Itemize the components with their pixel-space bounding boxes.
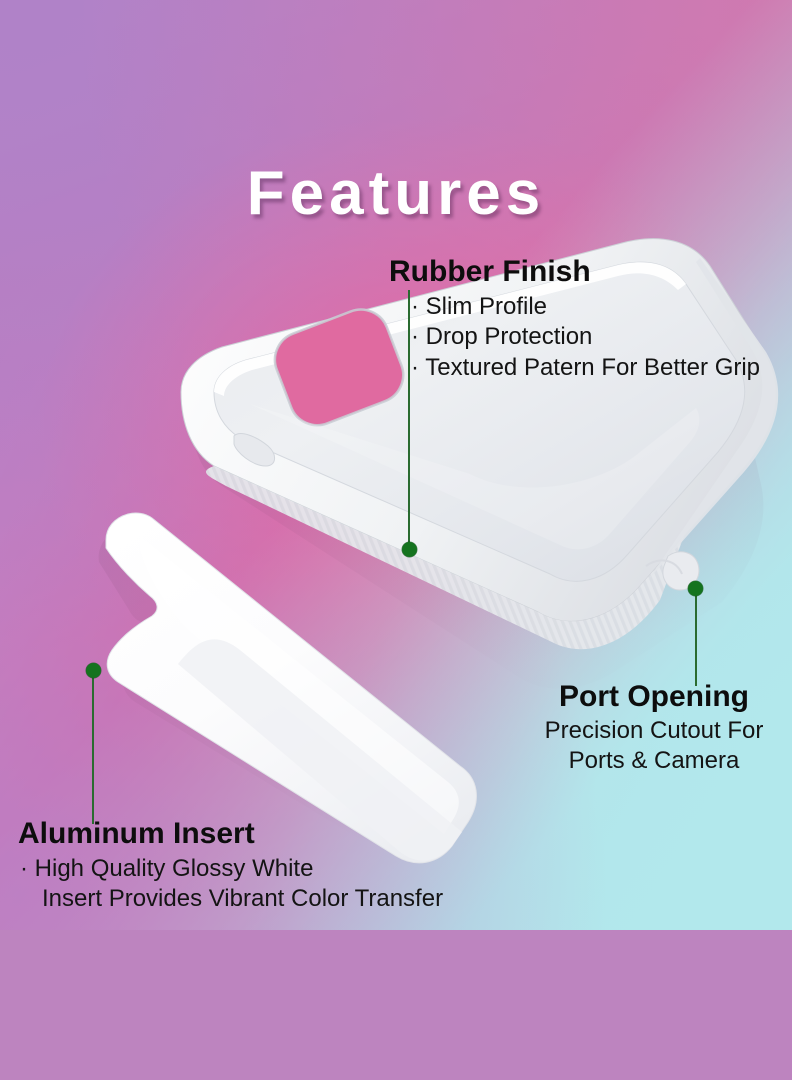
callout-port-opening: Port Opening Precision Cutout For Ports … [516,681,792,777]
leader-line-aluminum-insert [92,672,94,824]
callout-bullet-drop-protection: · Drop Protection [389,322,760,353]
callout-aluminum-insert: Aluminum Insert · High Quality Glossy Wh… [18,818,443,915]
marker-dot-port-opening [688,581,703,596]
callout-heading-port-opening: Port Opening [516,681,792,713]
callout-line-vibrant-color-transfer: Insert Provides Vibrant Color Transfer [18,884,443,915]
leader-line-port-opening [695,588,697,686]
callout-bullet-slim-profile: · Slim Profile [389,292,760,323]
callout-line-ports-camera: Ports & Camera [516,746,792,777]
page-title: Features [0,163,792,225]
callout-line-high-quality-glossy-white: · High Quality Glossy White [18,854,443,885]
callout-rubber-finish: Rubber Finish · Slim Profile · Drop Prot… [389,256,760,384]
callout-line-precision-cutout: Precision Cutout For [516,716,792,747]
callout-heading-rubber-finish: Rubber Finish [389,256,760,288]
marker-dot-aluminum-insert [86,663,101,678]
marker-dot-rubber-finish [402,542,417,557]
callout-bullet-textured-pattern: · Textured Patern For Better Grip [389,353,760,384]
infographic-canvas: Features Rubber Finish · Slim Profile · … [0,0,792,1080]
callout-heading-aluminum-insert: Aluminum Insert [18,818,443,850]
